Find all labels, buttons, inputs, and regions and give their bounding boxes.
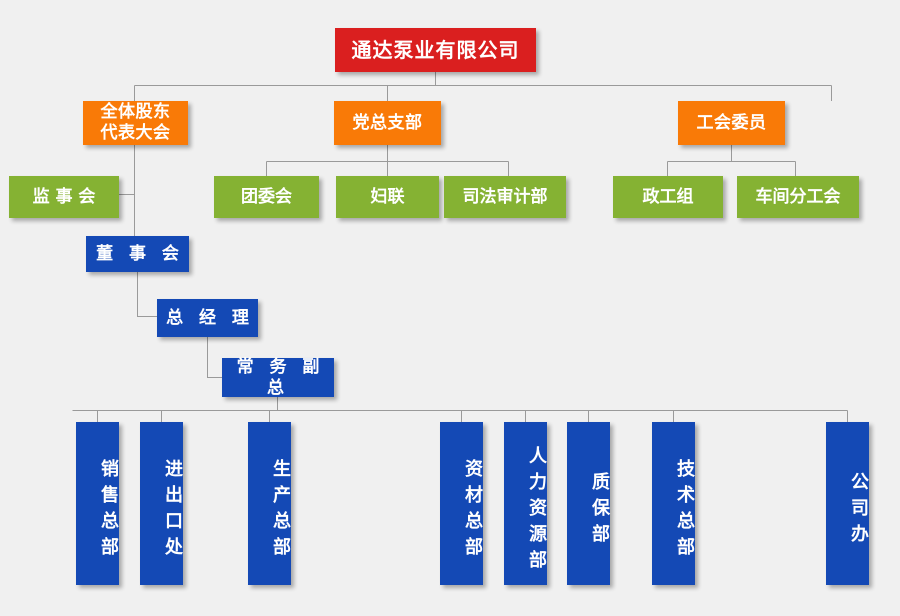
- node-label-line1: 全体股东: [101, 102, 171, 123]
- node-dept-human-resources[interactable]: 人力资源部: [504, 422, 547, 585]
- node-label: 董 事 会: [91, 244, 184, 265]
- node-label: 人力资源部: [525, 446, 547, 576]
- node-dept-quality-assurance[interactable]: 质保部: [567, 422, 610, 585]
- node-label: 技术总部: [673, 459, 695, 563]
- node-label: 党总支部: [353, 113, 423, 134]
- node-label: 总 经 理: [161, 308, 254, 329]
- node-union-committee[interactable]: 工会委员: [678, 101, 785, 145]
- node-label-line2: 代表大会: [101, 123, 171, 144]
- node-label: 公司办: [847, 472, 869, 550]
- node-label: 工会委员: [697, 113, 767, 134]
- node-label: 妇联: [371, 187, 405, 208]
- node-label: 生产总部: [269, 459, 291, 563]
- node-label: 团委会: [241, 187, 292, 208]
- node-company-root[interactable]: 通达泵业有限公司: [335, 28, 536, 72]
- node-board-of-directors[interactable]: 董 事 会: [86, 236, 189, 272]
- node-label: 监 事 会: [33, 187, 96, 208]
- node-label: 车间分工会: [756, 187, 841, 208]
- node-label: 政工组: [643, 187, 694, 208]
- node-supervisory-board[interactable]: 监 事 会: [9, 176, 119, 218]
- node-executive-deputy-manager[interactable]: 常 务 副 总: [222, 358, 334, 397]
- node-dept-materials[interactable]: 资材总部: [440, 422, 483, 585]
- node-label: 司法审计部: [463, 187, 548, 208]
- node-dept-technology[interactable]: 技术总部: [652, 422, 695, 585]
- node-workshop-union[interactable]: 车间分工会: [737, 176, 859, 218]
- node-political-work-group[interactable]: 政工组: [613, 176, 723, 218]
- node-youth-league[interactable]: 团委会: [214, 176, 319, 218]
- node-dept-company-office[interactable]: 公司办: [826, 422, 869, 585]
- node-dept-import-export[interactable]: 进出口处: [140, 422, 183, 585]
- node-label: 质保部: [588, 472, 610, 550]
- node-party-branch[interactable]: 党总支部: [334, 101, 441, 145]
- node-womens-federation[interactable]: 妇联: [336, 176, 439, 218]
- node-label: 通达泵业有限公司: [352, 38, 520, 62]
- org-chart: 通达泵业有限公司 全体股东 代表大会 党总支部 工会委员 监 事 会 团委会 妇…: [0, 0, 900, 616]
- node-general-manager[interactable]: 总 经 理: [157, 299, 258, 337]
- node-shareholders-assembly[interactable]: 全体股东 代表大会: [83, 101, 188, 145]
- node-label: 进出口处: [161, 459, 183, 563]
- node-label: 资材总部: [461, 459, 483, 563]
- line-gm-to-deputy: [208, 337, 223, 378]
- line-board-to-gm: [138, 272, 158, 317]
- node-label: 销售总部: [97, 459, 119, 563]
- node-dept-sales[interactable]: 销售总部: [76, 422, 119, 585]
- node-dept-production[interactable]: 生产总部: [248, 422, 291, 585]
- node-label: 常 务 副 总: [222, 357, 334, 398]
- node-judicial-audit-dept[interactable]: 司法审计部: [444, 176, 566, 218]
